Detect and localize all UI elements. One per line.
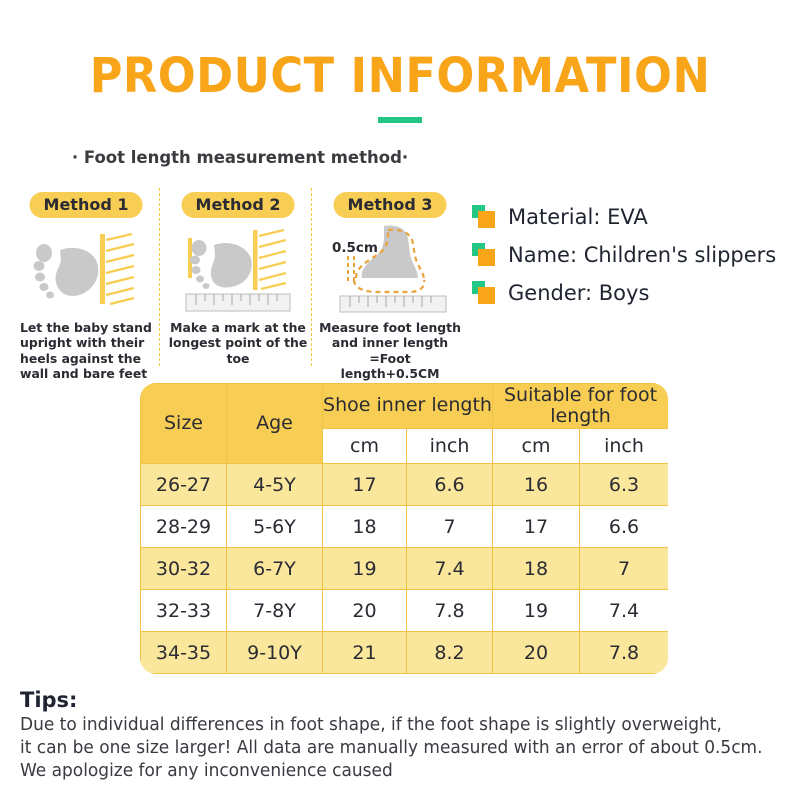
table-header-row: Size Age Shoe inner length Suitable for … (141, 384, 669, 429)
cell-size: 26-27 (141, 464, 227, 506)
product-spec-list: Material: EVA Name: Children's slippers … (472, 198, 776, 312)
method-2-badge: Method 2 (182, 192, 295, 218)
measurement-methods-group: Method 1 Let t (14, 186, 464, 381)
method-card-3: Method 3 0.5cm (318, 186, 462, 381)
cell-foot-inch: 7.8 (580, 632, 668, 674)
spec-item-material: Material: EVA (472, 198, 776, 236)
table-row: 34-35 9-10Y 21 8.2 20 7.8 (141, 632, 669, 674)
cell-age: 5-6Y (227, 506, 323, 548)
subheader-inner-inch: inch (407, 429, 493, 464)
cell-size: 34-35 (141, 632, 227, 674)
cell-foot-cm: 16 (493, 464, 580, 506)
page-title: PRODUCT INFORMATION (28, 48, 772, 104)
cell-size: 28-29 (141, 506, 227, 548)
cell-age: 7-8Y (227, 590, 323, 632)
method-divider-2 (311, 188, 312, 366)
table-row: 30-32 6-7Y 19 7.4 18 7 (141, 548, 669, 590)
cell-foot-cm: 18 (493, 548, 580, 590)
tips-title: Tips: (20, 688, 790, 712)
cell-size: 30-32 (141, 548, 227, 590)
square-bullet-icon (472, 281, 498, 305)
cell-foot-inch: 6.3 (580, 464, 668, 506)
header-suitable-foot-length: Suitable for foot length (493, 384, 668, 429)
cell-age: 6-7Y (227, 548, 323, 590)
cell-size: 32-33 (141, 590, 227, 632)
title-underline-rule (378, 117, 422, 123)
method-card-1: Method 1 Let t (14, 186, 158, 381)
footprint-with-ruler-icon (166, 220, 310, 316)
method-1-caption: Let the baby stand upright with their he… (14, 320, 158, 382)
subheader-inner-cm: cm (323, 429, 407, 464)
spec-item-name: Name: Children's slippers (472, 236, 776, 274)
header-shoe-inner-length: Shoe inner length (323, 384, 493, 429)
cell-foot-inch: 6.6 (580, 506, 668, 548)
cell-inner-inch: 7.8 (407, 590, 493, 632)
section-subtitle: · Foot length measurement method· (70, 148, 410, 167)
annotation-05cm: 0.5cm (332, 240, 378, 256)
table-row: 28-29 5-6Y 18 7 17 6.6 (141, 506, 669, 548)
square-bullet-icon (472, 243, 498, 267)
header-age: Age (227, 384, 323, 464)
method-divider-1 (159, 188, 160, 366)
method-1-badge: Method 1 (30, 192, 143, 218)
cell-inner-inch: 8.2 (407, 632, 493, 674)
tips-section: Tips: Due to individual differences in f… (20, 688, 790, 783)
subheader-foot-inch: inch (580, 429, 668, 464)
table-row: 32-33 7-8Y 20 7.8 19 7.4 (141, 590, 669, 632)
cell-foot-inch: 7 (580, 548, 668, 590)
method-card-2: Method 2 (166, 186, 310, 381)
method-3-caption: Measure foot length and inner length =Fo… (318, 320, 462, 382)
cell-inner-cm: 20 (323, 590, 407, 632)
cell-foot-cm: 17 (493, 506, 580, 548)
tips-line-2: it can be one size larger! All data are … (20, 737, 767, 760)
table-row: 26-27 4-5Y 17 6.6 16 6.3 (141, 464, 669, 506)
cell-inner-inch: 7 (407, 506, 493, 548)
cell-inner-cm: 18 (323, 506, 407, 548)
method-2-caption: Make a mark at the longest point of the … (166, 320, 310, 366)
spec-material-label: Material: EVA (508, 205, 648, 229)
cell-inner-cm: 21 (323, 632, 407, 674)
cell-inner-inch: 7.4 (407, 548, 493, 590)
size-chart-table: Size Age Shoe inner length Suitable for … (140, 383, 668, 674)
header-size: Size (141, 384, 227, 464)
tips-line-3: We apologize for any inconvenience cause… (20, 760, 767, 783)
cell-inner-cm: 19 (323, 548, 407, 590)
spec-gender-label: Gender: Boys (508, 281, 649, 305)
cell-foot-cm: 19 (493, 590, 580, 632)
spec-item-gender: Gender: Boys (472, 274, 776, 312)
subheader-foot-cm: cm (493, 429, 580, 464)
cell-age: 4-5Y (227, 464, 323, 506)
tips-line-1: Due to individual differences in foot sh… (20, 714, 767, 737)
cell-age: 9-10Y (227, 632, 323, 674)
cell-inner-inch: 6.6 (407, 464, 493, 506)
shoe-inner-length-icon: 0.5cm (318, 220, 462, 316)
square-bullet-icon (472, 205, 498, 229)
cell-foot-inch: 7.4 (580, 590, 668, 632)
cell-foot-cm: 20 (493, 632, 580, 674)
method-3-badge: Method 3 (334, 192, 447, 218)
cell-inner-cm: 17 (323, 464, 407, 506)
spec-name-label: Name: Children's slippers (508, 243, 776, 267)
footprint-against-wall-icon (14, 220, 158, 316)
